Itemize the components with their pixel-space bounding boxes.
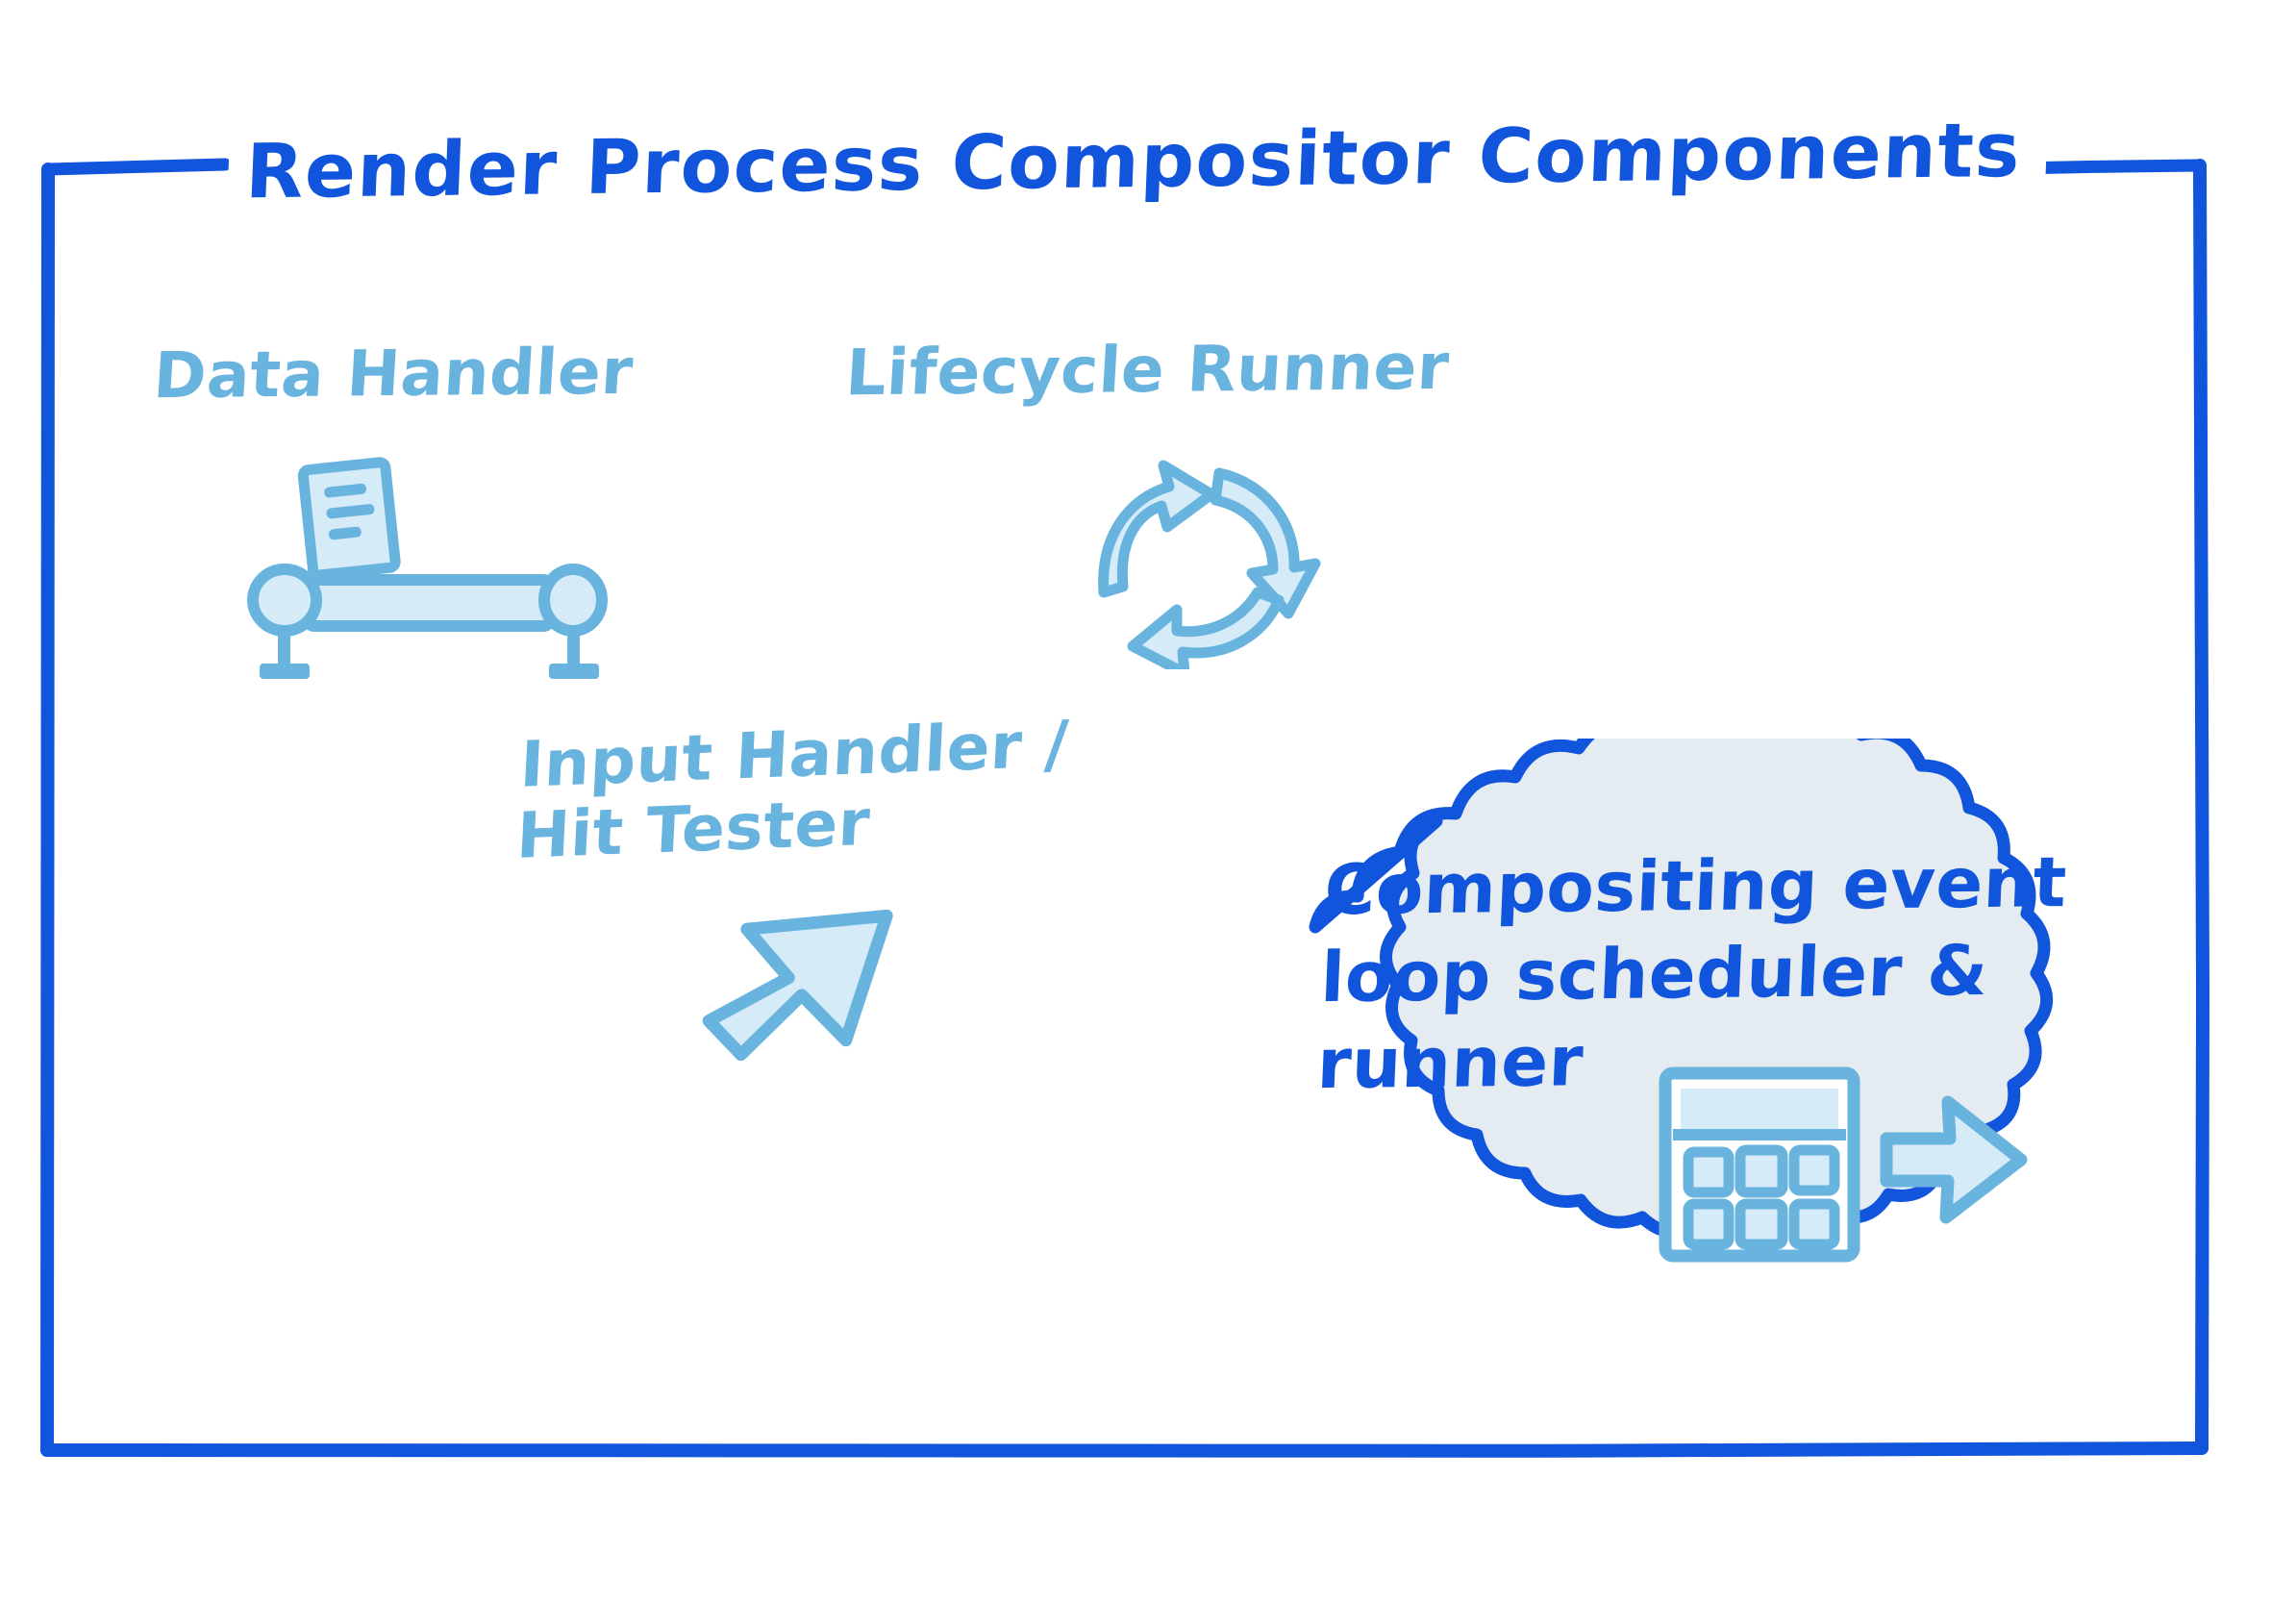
conveyor-belt-document-icon xyxy=(238,450,623,690)
input-handler-line-2: Hit Tester xyxy=(515,786,872,873)
cursor-shape xyxy=(705,893,886,1071)
recycle-arrow-bottom xyxy=(1133,592,1279,669)
mouse-cursor-arrow-icon xyxy=(696,889,898,1071)
frame-bottom-edge xyxy=(47,1448,2202,1452)
component-label-data-handler: Data Handler xyxy=(152,337,636,412)
calendar-schedule-arrow-icon xyxy=(1652,1064,2036,1266)
page-title: Render Process Compositor Components xyxy=(227,112,2048,213)
cloud-line-1: Compositing event xyxy=(1323,841,2069,930)
arrow-right-icon xyxy=(1886,1102,2021,1217)
frame-top-left-segment xyxy=(48,164,225,169)
component-label-lifecycle-runner: Lifecycle Runner xyxy=(844,332,1452,409)
cloud-callout: Compositing eventloop scheduler &runner xyxy=(1200,739,2208,1364)
cloud-line-3: runner xyxy=(1315,1021,1585,1105)
frame-left-edge xyxy=(46,169,48,1450)
component-label-input-handler-hit-tester: Input Handler /Hit Tester xyxy=(515,709,1071,872)
conveyor-belt-icon xyxy=(308,580,550,626)
recycle-arrow-top-left xyxy=(1104,465,1211,592)
recycle-cycle-arrows-icon xyxy=(1075,448,1325,669)
cloud-line-2: loop scheduler & xyxy=(1319,930,1989,1017)
document-lines-icon xyxy=(303,462,396,575)
